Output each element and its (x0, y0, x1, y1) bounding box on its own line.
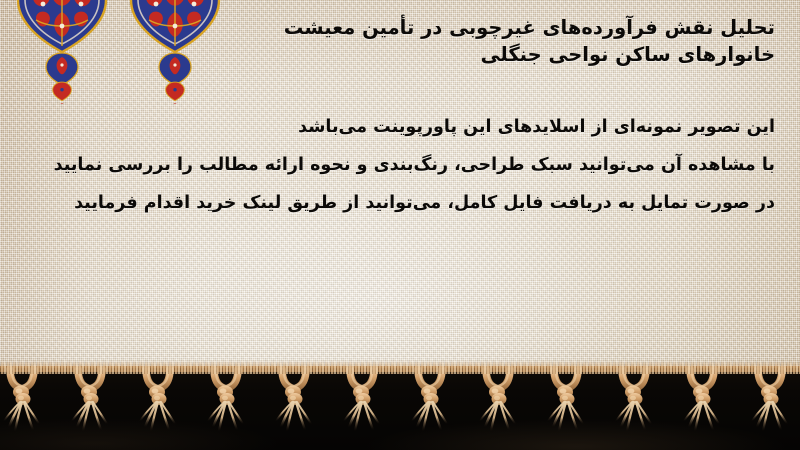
body-line-1: این تصویر نمونه‌ای از اسلایدهای این پاور… (25, 108, 775, 146)
slide-title: تحلیل نقش فرآورده‌های غیرچوبی در تأمین م… (25, 14, 775, 68)
carpet-fringe-band (0, 366, 800, 450)
body-line-3: در صورت تمایل به دریافت فایل کامل، می‌تو… (25, 184, 775, 222)
body-line-2: با مشاهده آن می‌توانید سبک طراحی، رنگ‌بن… (25, 146, 775, 184)
slide-body-text: این تصویر نمونه‌ای از اسلایدهای این پاور… (25, 108, 775, 222)
carpet-selvedge-edge (0, 360, 800, 374)
title-line-1: تحلیل نقش فرآورده‌های غیرچوبی در تأمین م… (25, 14, 775, 41)
tassel-fringe-graphic (0, 366, 800, 450)
slide-text-layer: تحلیل نقش فرآورده‌های غیرچوبی در تأمین م… (0, 0, 800, 382)
title-line-2: خانوارهای ساکن نواحی جنگلی (25, 41, 775, 68)
slide-canvas: تحلیل نقش فرآورده‌های غیرچوبی در تأمین م… (0, 0, 800, 450)
